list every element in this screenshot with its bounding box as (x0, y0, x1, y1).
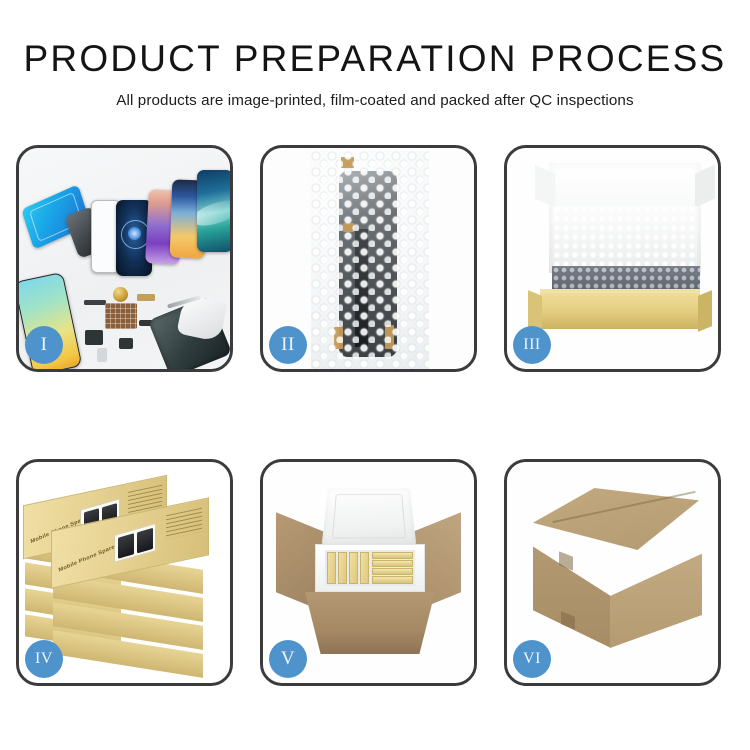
bubble-wrap-bag (311, 151, 429, 369)
phone-screen-teal (197, 170, 230, 252)
step-panel-2[interactable]: II (260, 145, 477, 372)
battery-connector (97, 348, 107, 362)
gold-component (113, 287, 128, 302)
packed-box-5 (372, 552, 413, 559)
step-badge-3: III (513, 326, 551, 364)
packed-box-4 (360, 552, 369, 584)
step-badge-5: V (269, 640, 307, 678)
flex-cable-left (85, 330, 103, 345)
packed-box-7 (372, 568, 413, 575)
box-tray-yellow (540, 293, 700, 329)
carton-body (305, 592, 435, 654)
carton-right-face (610, 530, 702, 648)
page-header: PRODUCT PREPARATION PROCESS All products… (0, 0, 750, 109)
carton-left-face (533, 530, 611, 648)
step-panel-5[interactable]: V (260, 459, 477, 686)
box-window-front (114, 523, 156, 563)
step-badge-1: I (25, 326, 63, 364)
packed-box-8 (372, 576, 413, 584)
step-badge-2: II (269, 326, 307, 364)
chip-bar (84, 300, 106, 305)
liner-cavity (325, 550, 415, 586)
styrofoam-lid (322, 488, 417, 546)
page-subtitle: All products are image-printed, film-coa… (0, 92, 750, 109)
box-thumb-front-2 (137, 528, 153, 554)
step-badge-4: IV (25, 640, 63, 678)
packed-box-2 (338, 552, 347, 584)
step-panel-6[interactable]: VI (504, 459, 721, 686)
step-panel-4[interactable]: Mobile Phone Spare Parts Mobile Phone Sp… (16, 459, 233, 686)
small-module (119, 338, 133, 349)
process-step-grid: I II III (16, 145, 734, 686)
page-title: PRODUCT PREPARATION PROCESS (0, 40, 750, 79)
packed-box-6 (372, 560, 413, 567)
packed-box-3 (349, 552, 358, 584)
box-thumb-front-1 (118, 533, 134, 559)
step-panel-1[interactable]: I (16, 145, 233, 372)
logic-board (105, 303, 137, 329)
box-spec-lines-front (166, 508, 202, 540)
step-panel-3[interactable]: III (504, 145, 721, 372)
gold-connector (137, 294, 155, 301)
bubble-texture (311, 151, 429, 369)
packed-box-1 (327, 552, 336, 584)
step-badge-6: VI (513, 640, 551, 678)
white-foam-pad (553, 206, 697, 268)
